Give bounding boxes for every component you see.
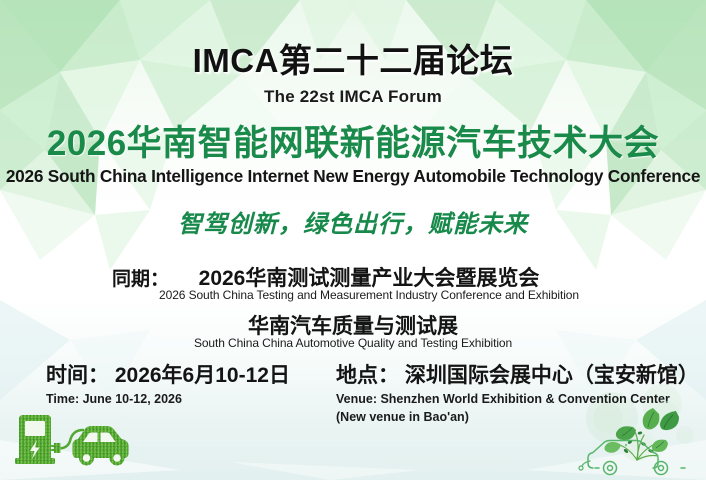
concurrent-event-1: 同期： 2026华南测试测量产业大会暨展览会 2026 South China …: [0, 262, 706, 304]
main-title-en: 2026 South China Intelligence Internet N…: [5, 168, 700, 186]
concurrent-events: 同期： 2026华南测试测量产业大会暨展览会 2026 South China …: [0, 262, 706, 304]
concurrent-event-2-title-en: South China China Automotive Quality and…: [0, 336, 706, 350]
conference-poster: IMCA第二十二届论坛 The 22st IMCA Forum 2026华南智能…: [0, 0, 706, 480]
forum-title-en: The 22st IMCA Forum: [0, 88, 706, 105]
green-car-with-leaves-icon: [578, 396, 700, 478]
main-title-cn: 2026华南智能网联新能源汽车技术大会: [0, 126, 706, 161]
venue-cn: 地点： 深圳国际会展中心（宝安新馆）: [336, 364, 699, 388]
time-block: 时间： 2026年6月10-12日 Time: June 10-12, 2026: [46, 364, 290, 408]
slogan: 智驾创新，绿色出行，赋能未来: [0, 213, 706, 237]
time-cn: 时间： 2026年6月10-12日: [46, 364, 290, 388]
forum-title-cn: IMCA第二十二届论坛: [0, 44, 706, 77]
ev-charging-station-and-car-icon: [10, 406, 130, 472]
concurrent-event-1-title-en: 2026 South China Testing and Measurement…: [0, 288, 706, 302]
